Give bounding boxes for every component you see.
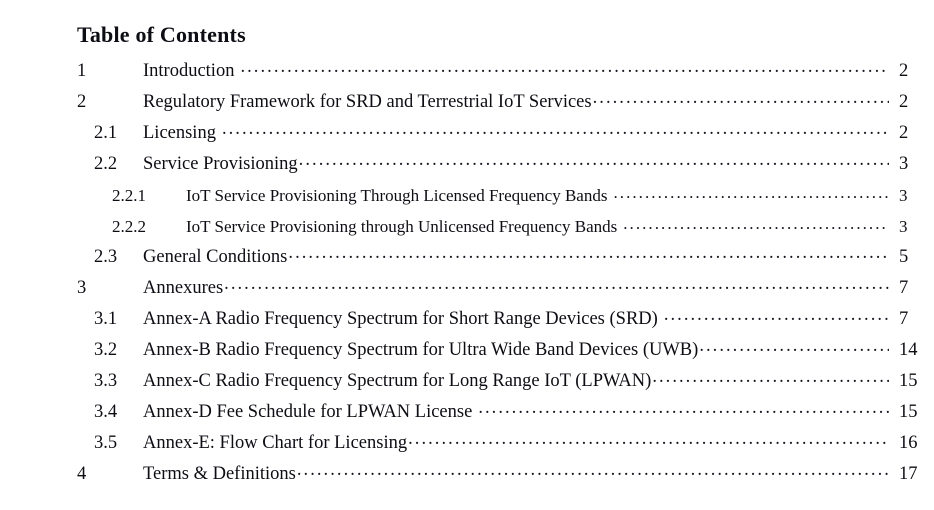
toc-dot-leader	[299, 151, 889, 170]
toc-entry-label: General Conditions	[143, 242, 287, 273]
toc-entry[interactable]: 4Terms & Definitions17	[0, 459, 934, 490]
toc-dot-leader	[288, 244, 889, 263]
toc-dot-leader	[652, 368, 889, 387]
toc-entry-number: 2.3	[94, 242, 143, 273]
toc-entry-label: Annexures	[143, 273, 223, 304]
toc-dot-leader	[699, 337, 889, 356]
toc-entry-label: Annex-B Radio Frequency Spectrum for Ult…	[143, 335, 698, 366]
toc-entry-number: 3	[77, 273, 143, 304]
toc-dot-leader	[408, 430, 889, 449]
toc-entry-number: 3.1	[94, 304, 143, 335]
toc-dot-leader	[593, 89, 889, 108]
toc-entry-page-number: 15	[890, 366, 934, 397]
toc-entry-label: Regulatory Framework for SRD and Terrest…	[143, 87, 592, 118]
toc-entry-label: Terms & Definitions	[143, 459, 296, 490]
toc-entry-page-number: 15	[890, 397, 934, 428]
toc-entry[interactable]: 2.2.2IoT Service Provisioning through Un…	[0, 211, 934, 242]
toc-entry-page-number: 7	[890, 273, 934, 304]
toc-dot-leader	[224, 275, 889, 294]
toc-entry-number: 2.1	[94, 118, 143, 149]
toc-entry[interactable]: 3.2Annex-B Radio Frequency Spectrum for …	[0, 335, 934, 366]
toc-entry-number: 2.2	[94, 149, 143, 180]
toc-entry[interactable]: 2Regulatory Framework for SRD and Terres…	[0, 87, 934, 118]
toc-entry-page-number: 3	[890, 180, 934, 211]
toc-dot-leader	[623, 215, 889, 232]
toc-entry-page-number: 3	[890, 149, 934, 180]
toc-entry-label: IoT Service Provisioning Through License…	[186, 180, 612, 211]
toc-entry-number: 4	[77, 459, 143, 490]
toc-dot-leader	[664, 306, 889, 325]
toc-entry-number: 3.5	[94, 428, 143, 459]
toc-entry-page-number: 2	[890, 87, 934, 118]
toc-dot-leader	[222, 120, 889, 139]
toc-entry[interactable]: 3Annexures7	[0, 273, 934, 304]
toc-entry-label: IoT Service Provisioning through Unlicen…	[186, 211, 622, 242]
toc-entry-page-number: 17	[890, 459, 934, 490]
toc-entry-page-number: 2	[890, 118, 934, 149]
toc-entry-number: 2.2.1	[112, 180, 186, 211]
toc-entry[interactable]: 3.4Annex-D Fee Schedule for LPWAN Licens…	[0, 397, 934, 428]
toc-entry-number: 3.2	[94, 335, 143, 366]
toc-entry[interactable]: 1Introduction2	[0, 56, 934, 87]
toc-entry[interactable]: 3.1Annex-A Radio Frequency Spectrum for …	[0, 304, 934, 335]
document-page: Table of Contents 1Introduction22Regulat…	[0, 0, 934, 510]
toc-entry[interactable]: 3.5Annex-E: Flow Chart for Licensing16	[0, 428, 934, 459]
toc-entry-page-number: 16	[890, 428, 934, 459]
toc-dot-leader	[297, 461, 889, 480]
toc-entry[interactable]: 3.3Annex-C Radio Frequency Spectrum for …	[0, 366, 934, 397]
toc-entry-label: Service Provisioning	[143, 149, 298, 180]
toc-entry-page-number: 14	[890, 335, 934, 366]
toc-dot-leader	[240, 58, 889, 77]
toc-entry-page-number: 5	[890, 242, 934, 273]
toc-entry-number: 2.2.2	[112, 211, 186, 242]
toc-entry-label: Annex-E: Flow Chart for Licensing	[143, 428, 407, 459]
toc-entry-number: 2	[77, 87, 143, 118]
toc-entry[interactable]: 2.1Licensing2	[0, 118, 934, 149]
toc-entry-number: 1	[77, 56, 143, 87]
toc-entry-label: Introduction	[143, 56, 239, 87]
toc-entry[interactable]: 2.2.1IoT Service Provisioning Through Li…	[0, 180, 934, 211]
toc-entry-number: 3.4	[94, 397, 143, 428]
toc-entry-label: Annex-D Fee Schedule for LPWAN License	[143, 397, 477, 428]
toc-dot-leader	[613, 184, 889, 201]
toc-entry[interactable]: 2.3General Conditions5	[0, 242, 934, 273]
toc-entry-label: Licensing	[143, 118, 221, 149]
toc-entry[interactable]: 2.2Service Provisioning3	[0, 149, 934, 180]
toc-entry-label: Annex-C Radio Frequency Spectrum for Lon…	[143, 366, 651, 397]
page-title: Table of Contents	[77, 23, 246, 47]
toc-dot-leader	[478, 399, 889, 418]
table-of-contents-list: 1Introduction22Regulatory Framework for …	[0, 56, 934, 490]
toc-entry-page-number: 3	[890, 211, 934, 242]
toc-entry-page-number: 7	[890, 304, 934, 335]
toc-entry-page-number: 2	[890, 56, 934, 87]
toc-entry-number: 3.3	[94, 366, 143, 397]
toc-entry-label: Annex-A Radio Frequency Spectrum for Sho…	[143, 304, 663, 335]
